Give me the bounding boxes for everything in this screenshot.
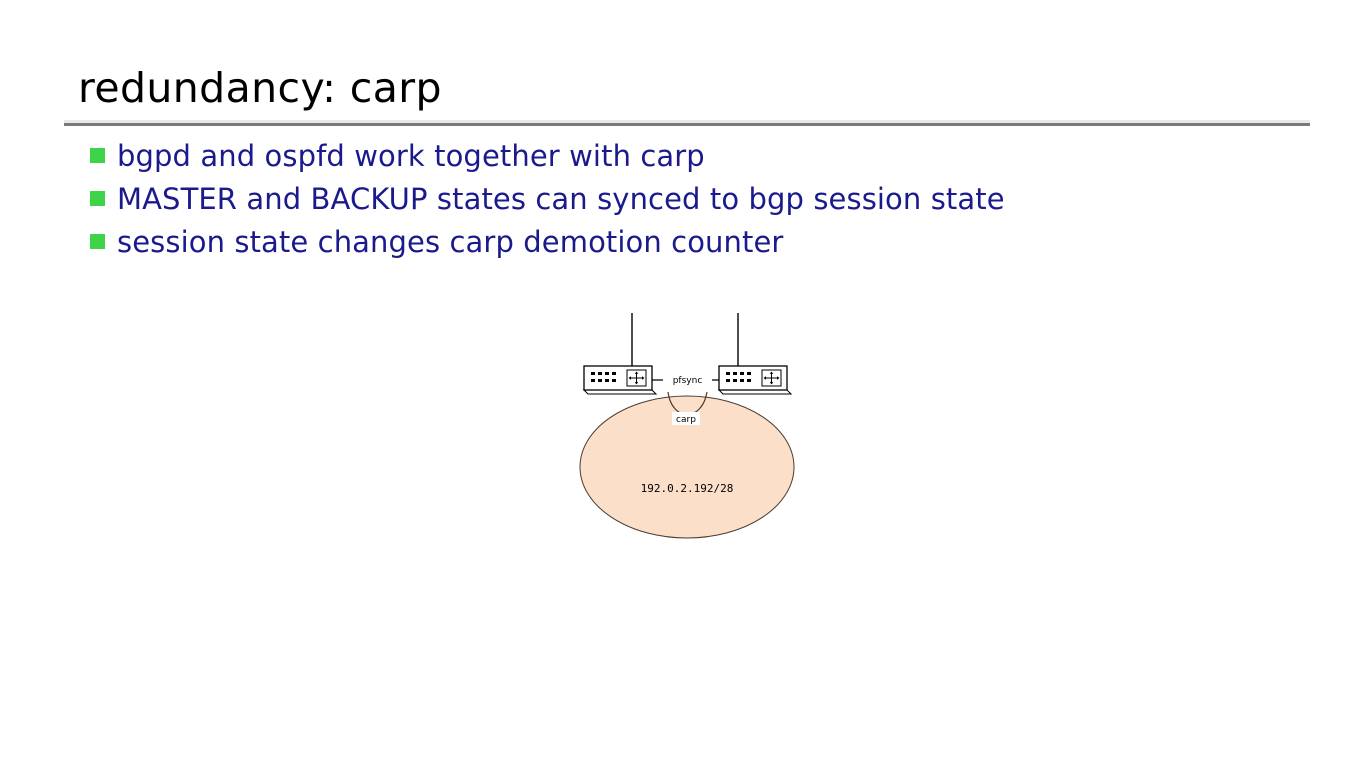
slide-canvas: redundancy: carp bgpd and ospfd work tog… <box>0 0 1366 768</box>
network-diagram: pfsync carp 192.0.2.192/28 <box>560 300 810 550</box>
square-bullet-icon <box>90 148 105 163</box>
title-divider <box>64 120 1310 126</box>
square-bullet-icon <box>90 234 105 249</box>
network-diagram-svg: pfsync carp 192.0.2.192/28 <box>560 300 810 550</box>
router-icon-left <box>584 366 656 394</box>
list-item-label: session state changes carp demotion coun… <box>117 222 783 262</box>
page-title: redundancy: carp <box>78 64 442 112</box>
list-item: MASTER and BACKUP states can synced to b… <box>90 179 1290 222</box>
square-bullet-icon <box>90 191 105 206</box>
network-cloud-label: 192.0.2.192/28 <box>641 482 734 495</box>
list-item-label: MASTER and BACKUP states can synced to b… <box>117 179 1005 219</box>
router-icon-right <box>719 366 791 394</box>
list-item-label: bgpd and ospfd work together with carp <box>117 136 705 176</box>
carp-link-label: carp <box>676 415 696 425</box>
pfsync-link-label: pfsync <box>673 376 703 386</box>
title-divider-shadow <box>64 123 1310 126</box>
list-item: bgpd and ospfd work together with carp <box>90 136 1290 179</box>
list-item: session state changes carp demotion coun… <box>90 222 1290 265</box>
bullet-list: bgpd and ospfd work together with carp M… <box>90 136 1290 265</box>
